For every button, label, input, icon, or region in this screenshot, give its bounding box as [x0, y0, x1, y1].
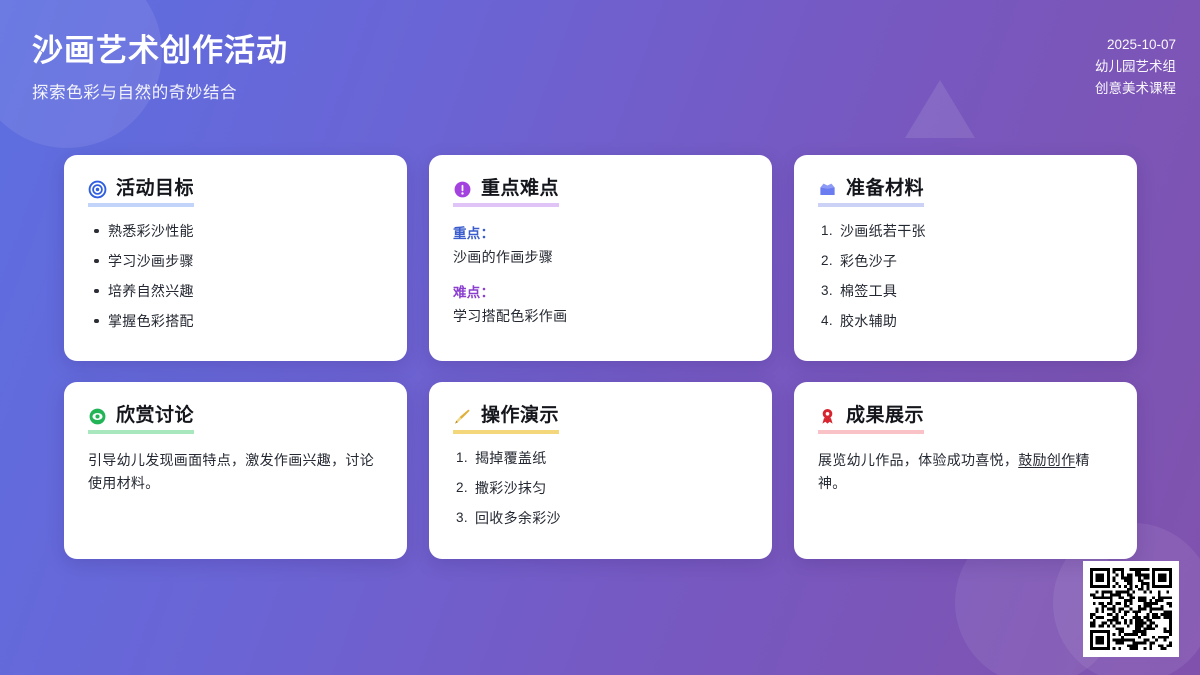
header-left-block: 沙画艺术创作活动 探索色彩与自然的奇妙结合: [32, 32, 288, 103]
list-item: 揭掉覆盖纸: [453, 449, 748, 468]
card-showcase[interactable]: 成果展示 展览幼儿作品，体验成功喜悦，鼓励创作精神。: [794, 382, 1137, 559]
card-title: 活动目标: [116, 179, 194, 200]
box-icon: [818, 180, 837, 199]
card-materials[interactable]: 准备材料 沙画纸若干张 彩色沙子 棉签工具 胶水辅助: [794, 155, 1137, 361]
exclamation-circle-icon: [453, 180, 472, 199]
page-subtitle: 探索色彩与自然的奇妙结合: [32, 79, 288, 103]
appreciation-paragraph: 引导幼儿发现画面特点，激发作画兴趣，讨论使用材料。: [88, 449, 383, 494]
materials-list: 沙画纸若干张 彩色沙子 棉签工具 胶水辅助: [818, 222, 1113, 342]
card-title: 重点难点: [481, 179, 559, 200]
objectives-list: 熟悉彩沙性能 学习沙画步骤 培养自然兴趣 掌握色彩搭配: [88, 222, 383, 342]
key-label: 重点：: [453, 222, 748, 242]
card-header: 欣赏讨论: [88, 406, 383, 434]
list-item: 熟悉彩沙性能: [88, 222, 383, 241]
card-key-difficult[interactable]: 重点难点 重点： 沙画的作画步骤 难点： 学习搭配色彩作画: [429, 155, 772, 361]
header-meta-block: 2025-10-07 幼儿园艺术组 创意美术课程: [1095, 34, 1176, 100]
difficult-label: 难点：: [453, 281, 748, 301]
card-title-underline: 欣赏讨论: [88, 406, 194, 434]
card-title-underline: 活动目标: [88, 179, 194, 207]
card-title-underline: 操作演示: [453, 406, 559, 434]
list-item: 撒彩沙抹匀: [453, 479, 748, 498]
list-item: 彩色沙子: [818, 252, 1113, 271]
card-header: 活动目标: [88, 179, 383, 207]
list-item: 培养自然兴趣: [88, 282, 383, 301]
card-demonstration[interactable]: 操作演示 揭掉覆盖纸 撒彩沙抹匀 回收多余彩沙: [429, 382, 772, 559]
difficult-value: 学习搭配色彩作画: [453, 306, 748, 326]
card-title: 成果展示: [846, 406, 924, 427]
list-item: 学习沙画步骤: [88, 252, 383, 271]
showcase-text-emphasis: 鼓励创作: [1018, 452, 1075, 468]
eye-icon: [88, 407, 107, 426]
list-item: 棉签工具: [818, 282, 1113, 301]
card-header: 准备材料: [818, 179, 1113, 207]
award-icon: [818, 407, 837, 426]
qr-code[interactable]: [1083, 561, 1179, 657]
meta-org: 幼儿园艺术组: [1095, 56, 1176, 78]
list-item: 回收多余彩沙: [453, 509, 748, 528]
demonstration-list: 揭掉覆盖纸 撒彩沙抹匀 回收多余彩沙: [453, 449, 748, 539]
card-objectives[interactable]: 活动目标 熟悉彩沙性能 学习沙画步骤 培养自然兴趣 掌握色彩搭配: [64, 155, 407, 361]
meta-course: 创意美术课程: [1095, 78, 1176, 100]
card-title-underline: 成果展示: [818, 406, 924, 434]
page-title: 沙画艺术创作活动: [32, 32, 288, 71]
card-header: 成果展示: [818, 406, 1113, 434]
card-title: 操作演示: [481, 406, 559, 427]
list-item: 沙画纸若干张: [818, 222, 1113, 241]
list-item: 掌握色彩搭配: [88, 312, 383, 331]
card-title: 欣赏讨论: [116, 406, 194, 427]
showcase-text-1: 展览幼儿作品，体验成功喜悦，: [818, 452, 1018, 468]
card-title-underline: 重点难点: [453, 179, 559, 207]
key-difficult-body: 重点： 沙画的作画步骤 难点： 学习搭配色彩作画: [453, 222, 748, 326]
card-title-underline: 准备材料: [818, 179, 924, 207]
card-title: 准备材料: [846, 179, 924, 200]
showcase-paragraph: 展览幼儿作品，体验成功喜悦，鼓励创作精神。: [818, 449, 1113, 494]
list-item: 胶水辅助: [818, 312, 1113, 331]
card-header: 重点难点: [453, 179, 748, 207]
card-grid: 活动目标 熟悉彩沙性能 学习沙画步骤 培养自然兴趣 掌握色彩搭配 重点难点 重点…: [64, 155, 1137, 559]
qr-code-image: [1090, 568, 1172, 650]
target-icon: [88, 180, 107, 199]
meta-date: 2025-10-07: [1095, 34, 1176, 56]
card-appreciation[interactable]: 欣赏讨论 引导幼儿发现画面特点，激发作画兴趣，讨论使用材料。: [64, 382, 407, 559]
slide-header: 沙画艺术创作活动 探索色彩与自然的奇妙结合 2025-10-07 幼儿园艺术组 …: [0, 0, 1200, 140]
card-header: 操作演示: [453, 406, 748, 434]
paintbrush-icon: [453, 407, 472, 426]
key-value: 沙画的作画步骤: [453, 247, 748, 267]
